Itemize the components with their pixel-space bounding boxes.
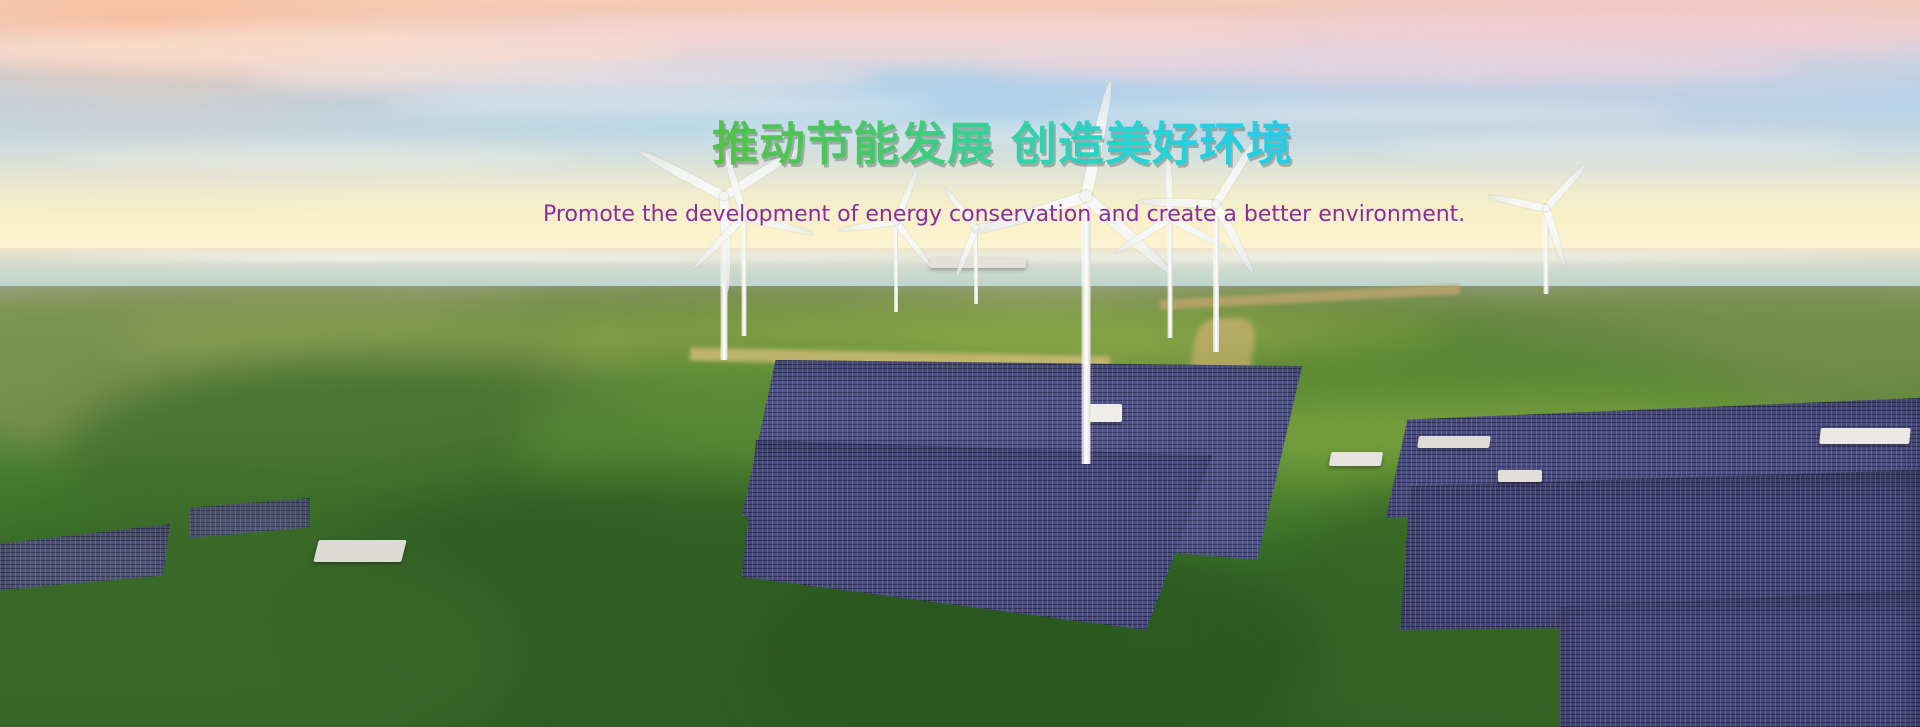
hero-banner: 推动节能发展 创造美好环境 Promote the development of…	[0, 0, 1920, 727]
building	[1498, 470, 1542, 482]
building	[1417, 436, 1491, 448]
turbine-hub	[1543, 205, 1550, 212]
banner-headline: 推动节能发展 创造美好环境	[712, 118, 1293, 170]
turbine-hub	[720, 192, 729, 201]
banner-subtitle: Promote the development of energy conser…	[543, 201, 1465, 229]
building	[1329, 452, 1383, 466]
wind-turbine	[1486, 208, 1606, 294]
solar-panel-array	[1560, 590, 1920, 727]
building	[1819, 428, 1911, 444]
wind-turbine	[916, 228, 1036, 304]
turbine-tower	[1082, 196, 1091, 464]
building	[313, 540, 406, 562]
turbine-tower	[742, 216, 747, 336]
wind-turbine	[684, 216, 804, 336]
turbine-tower	[894, 222, 898, 312]
